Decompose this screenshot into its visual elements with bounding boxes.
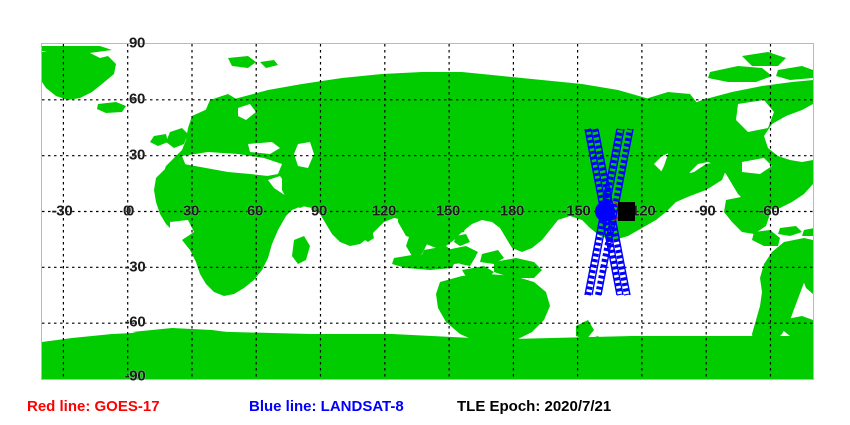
lon-tick-minus60: -60	[759, 204, 780, 219]
lat-tick-minus30: -30	[125, 260, 146, 275]
label-occlusion-block	[618, 202, 635, 221]
lon-tick-120: 120	[372, 204, 396, 219]
lat-tick-60: 60	[129, 92, 145, 107]
lat-tick-30: 30	[129, 148, 145, 163]
lon-tick-60: 60	[247, 204, 263, 219]
legend-blue-line: Blue line: LANDSAT-8	[249, 398, 404, 416]
lat-tick-minus60: -60	[125, 315, 146, 330]
landsat-position-marker	[595, 202, 615, 222]
lat-tick-0: 0	[126, 204, 134, 219]
legend-tle-epoch: TLE Epoch: 2020/7/21	[457, 398, 611, 416]
satellite-ground-track-map: -30 0 30 60 90 120 150 180 -150 -120 -90…	[0, 0, 850, 425]
lat-tick-minus90: -90	[125, 369, 146, 384]
lon-tick-minus30: -30	[52, 204, 73, 219]
lon-tick-minus90: -90	[695, 204, 716, 219]
lat-tick-90: 90	[129, 36, 145, 51]
lon-tick-150: 150	[436, 204, 460, 219]
lon-tick-180: 180	[500, 204, 524, 219]
legend: Red line: GOES-17 Blue line: LANDSAT-8 T…	[0, 396, 850, 420]
lon-tick-30: 30	[183, 204, 199, 219]
lon-tick-90: 90	[311, 204, 327, 219]
legend-red-line: Red line: GOES-17	[27, 398, 160, 416]
lon-tick-minus150: -150	[562, 204, 591, 219]
